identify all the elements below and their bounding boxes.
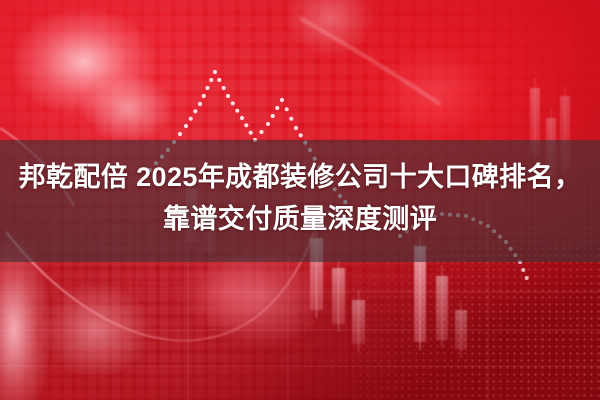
chart-dot [285,107,289,111]
trend-line-right [300,18,440,104]
chart-dot [178,132,182,136]
chart-dot [299,133,303,137]
chart-dot [202,94,206,98]
chart-dot [184,124,188,128]
chart-dot [198,102,202,106]
chart-dot [189,117,193,121]
chart-dot [235,109,239,113]
chart-dot [240,116,244,120]
chart-dot [294,126,298,130]
chart-dot [289,117,293,121]
chart-dot [231,101,235,105]
chart-dot [249,131,253,135]
chart-dot [244,123,248,127]
page-title: 邦乾配倍 2025年成都装修公司十大口碑排名， 靠谱交付质量深度测评 [0,156,600,240]
chart-dot [226,94,230,98]
chart-dot [222,86,226,90]
chart-dot [193,109,197,113]
chart-dot [213,70,217,74]
chart-dot [259,130,263,134]
chart-dot [280,98,284,102]
chart-dot [205,86,209,90]
chart-dot [525,276,529,280]
chart-dot [266,122,270,126]
chart-dot [217,78,221,82]
chart-dot [521,268,525,272]
banner-image: 邦乾配倍 2025年成都装修公司十大口碑排名， 靠谱交付质量深度测评 [0,0,600,400]
chart-dot [275,106,279,110]
chart-dot [209,78,213,82]
chart-dot [271,114,275,118]
